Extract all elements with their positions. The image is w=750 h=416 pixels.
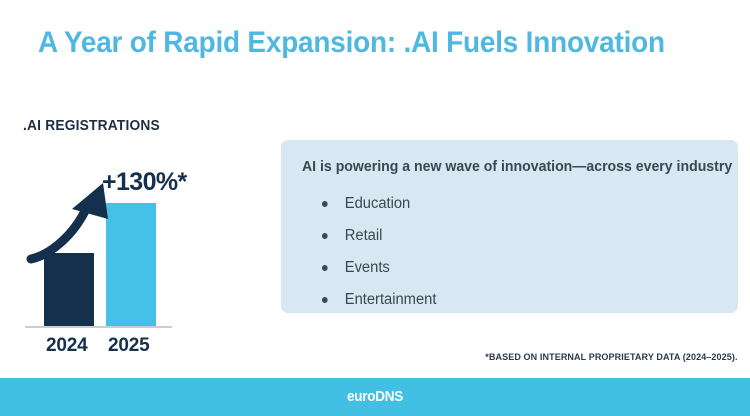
footer-bar: euroDNS <box>0 378 750 416</box>
brand-logo: euroDNS <box>38 378 713 416</box>
axis-label-2024: 2024 <box>46 335 87 357</box>
panel-lead-text: AI is powering a new wave of innovation—… <box>302 158 732 175</box>
registrations-bar-chart: +130%* 2024 2025 <box>20 165 210 355</box>
bullet-dot-icon <box>322 233 328 239</box>
industry-list: Education Retail Events Entertainment <box>321 188 443 316</box>
growth-arrow-icon <box>25 171 135 266</box>
page-title: A Year of Rapid Expansion: .AI Fuels Inn… <box>38 26 665 60</box>
list-item-label: Retail <box>345 227 383 244</box>
bullet-dot-icon <box>322 201 328 207</box>
chart-baseline <box>25 326 172 328</box>
list-item-label: Education <box>345 195 411 212</box>
list-item: Entertainment <box>321 284 436 316</box>
chart-axis-labels: 2024 2025 <box>20 335 210 359</box>
chart-bars <box>20 165 210 329</box>
list-item: Events <box>321 252 436 284</box>
industries-info-panel: AI is powering a new wave of innovation—… <box>281 140 738 313</box>
list-item-label: Entertainment <box>345 291 437 308</box>
chart-heading: .AI REGISTRATIONS <box>23 118 160 134</box>
bullet-dot-icon <box>322 297 328 303</box>
footnote: *BASED ON INTERNAL PROPRIETARY DATA (202… <box>486 352 738 363</box>
axis-label-2025: 2025 <box>108 335 149 357</box>
list-item-label: Events <box>345 259 390 276</box>
bullet-dot-icon <box>322 265 328 271</box>
list-item: Retail <box>321 220 436 252</box>
list-item: Education <box>321 188 436 220</box>
